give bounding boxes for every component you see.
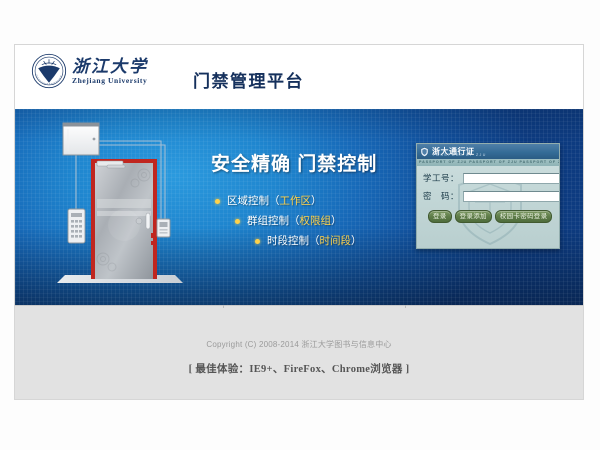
door-handle-icon: [146, 213, 150, 229]
bullet-dot-icon: [255, 239, 260, 244]
footer-notch: [223, 305, 224, 308]
feature-text-prefix: 区域控制（: [227, 191, 280, 211]
copyright-text: Copyright (C) 2008-2014 浙江大学图书与信息中心: [15, 339, 583, 350]
register-button[interactable]: 登录添加: [455, 210, 492, 223]
feature-text-prefix: 群组控制（: [247, 211, 300, 231]
login-panel-titlebar: 浙大通行证 PASSPORT OF ZJU: [417, 144, 559, 159]
login-button-row: 登录 登录添加 校园卡密码登录: [423, 208, 553, 223]
username-input[interactable]: [463, 173, 560, 184]
feature-text-suffix: ）: [311, 191, 322, 211]
feature-text-suffix: ）: [351, 231, 362, 251]
feature-text-prefix: 时段控制（: [267, 231, 320, 251]
list-item: 区域控制（ 工作区 ）: [215, 191, 405, 211]
footer-notch: [405, 305, 406, 308]
brand-logo[interactable]: 浙江大学 Zhejiang University: [31, 53, 148, 89]
feature-text-highlight: 权限组: [300, 211, 332, 231]
password-input[interactable]: [463, 191, 560, 202]
field-row: 学工号：: [423, 172, 553, 184]
site-footer: Copyright (C) 2008-2014 浙江大学图书与信息中心 [ 最佳…: [15, 305, 583, 400]
list-item: 群组控制（ 权限组 ）: [215, 211, 405, 231]
bullet-dot-icon: [235, 219, 240, 224]
site-container: 浙江大学 Zhejiang University 门禁管理平台: [14, 44, 584, 400]
field-row: 密 码：: [423, 190, 553, 202]
list-item: 时段控制（ 时间段 ）: [215, 231, 405, 251]
page-title: 门禁管理平台: [193, 67, 304, 92]
campus-card-login-button[interactable]: 校园卡密码登录: [495, 210, 553, 223]
keypad-reader-icon: [68, 209, 85, 243]
login-form: 学工号： 密 码： 登录 登录添加 校园卡密码登录: [417, 166, 559, 223]
access-controller-box-icon: [63, 123, 99, 155]
feature-text-suffix: ）: [331, 211, 342, 231]
site-header: 浙江大学 Zhejiang University 门禁管理平台: [15, 45, 583, 109]
brand-wordmark: 浙江大学 Zhejiang University: [72, 57, 148, 85]
browser-support-text: [ 最佳体验：IE9+、FireFox、Chrome浏览器 ]: [15, 361, 583, 376]
banner-headline: 安全精确 门禁控制: [211, 149, 377, 176]
hero-banner: 安全精确 门禁控制 区域控制（ 工作区 ） 群组控制（ 权限组 ） 时段: [15, 109, 583, 305]
login-panel-subtitle: PASSPORT OF ZJU: [433, 153, 487, 157]
login-panel: 浙大通行证 PASSPORT OF ZJU PASSPORT OF ZJU PA…: [416, 143, 560, 249]
feature-text-highlight: 工作区: [280, 191, 312, 211]
page-root: 浙江大学 Zhejiang University 门禁管理平台: [0, 0, 600, 450]
shield-icon: [420, 147, 429, 157]
access-control-illustration: [51, 117, 201, 297]
zju-seal-icon: [31, 53, 67, 89]
feature-list: 区域控制（ 工作区 ） 群组控制（ 权限组 ） 时段控制（ 时间段 ）: [215, 191, 405, 251]
feature-text-highlight: 时间段: [320, 231, 352, 251]
brand-name-en: Zhejiang University: [72, 76, 148, 85]
login-button[interactable]: 登录: [428, 210, 452, 223]
password-label: 密 码：: [423, 190, 459, 202]
bullet-dot-icon: [215, 199, 220, 204]
passport-watermark-strip: PASSPORT OF ZJU PASSPORT OF ZJU PASSPORT…: [417, 159, 559, 166]
card-reader-icon: [157, 219, 170, 237]
username-label: 学工号：: [423, 172, 459, 184]
brand-name-cn: 浙江大学: [72, 57, 148, 76]
